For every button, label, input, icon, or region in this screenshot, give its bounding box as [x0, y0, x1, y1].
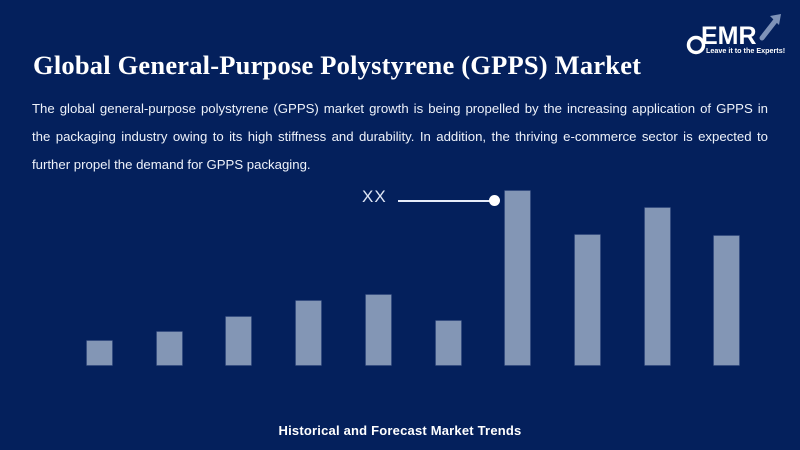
chart-bar	[296, 301, 321, 365]
chart-bar	[436, 321, 461, 365]
svg-text:Leave it to the Experts!: Leave it to the Experts!	[706, 46, 785, 55]
chart-bar	[645, 208, 670, 365]
callout-leader-line	[398, 200, 495, 202]
chart-bar	[505, 191, 530, 365]
bar-chart	[0, 180, 800, 410]
emr-logo[interactable]: EMR Leave it to the Experts!	[684, 8, 788, 60]
poster-canvas: EMR Leave it to the Experts! Global Gene…	[0, 0, 800, 450]
chart-bar	[226, 317, 251, 365]
description-paragraph: The global general-purpose polystyrene (…	[32, 95, 768, 179]
callout-endpoint-dot	[489, 195, 500, 206]
chart-axis-label: Historical and Forecast Market Trends	[0, 423, 800, 438]
chart-bar	[366, 295, 391, 365]
page-title: Global General-Purpose Polystyrene (GPPS…	[33, 50, 693, 81]
chart-bar	[157, 332, 182, 365]
up-arrow-icon	[762, 14, 781, 38]
callout-value-label: XX	[362, 187, 387, 207]
chart-bar	[87, 341, 112, 365]
chart-bar	[575, 235, 600, 365]
chart-bar	[714, 236, 739, 365]
